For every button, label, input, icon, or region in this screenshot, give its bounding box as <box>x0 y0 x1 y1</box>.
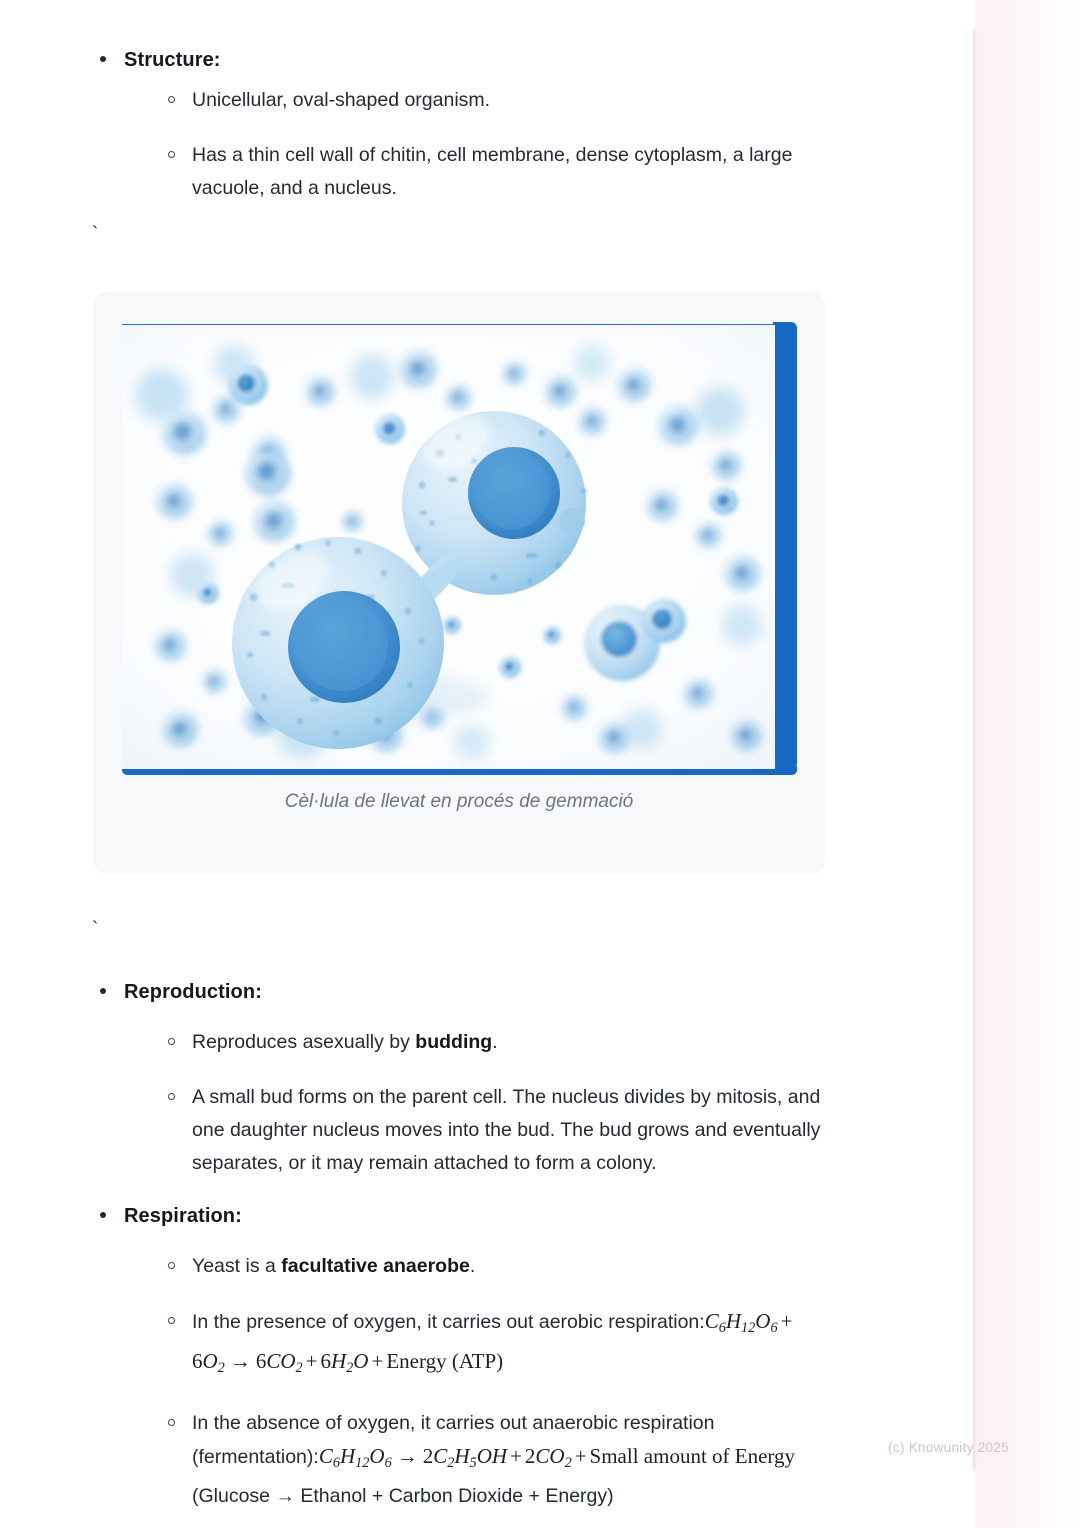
reproduction-sub-list: Reproduces asexually by budding. A small… <box>124 1026 852 1180</box>
section-heading-respiration: Respiration: <box>124 1202 852 1230</box>
list-item-text: Unicellular, oval-shaped organism. <box>192 89 490 111</box>
section-structure: Structure: Unicellular, oval-shaped orga… <box>92 46 852 205</box>
bullet-circle-icon <box>168 1093 175 1100</box>
section-respiration: Respiration: Yeast is a facultative anae… <box>92 1202 852 1513</box>
list-item-emphasis: facultative anaerobe <box>281 1255 470 1277</box>
bullet-circle-icon <box>168 1262 175 1269</box>
section-heading-reproduction: Reproduction: <box>124 978 852 1006</box>
bullet-disc-icon <box>100 1212 106 1218</box>
bullet-disc-icon <box>100 56 106 62</box>
stray-backtick-one: ` <box>92 223 852 247</box>
document-body: Structure: Unicellular, oval-shaped orga… <box>92 46 852 247</box>
watermark-knowunity: (c) Knowunity 2025 <box>888 1440 1009 1455</box>
aerobic-equation-continued: 6O2→6CO2+6H2O+Energy (ATP) <box>192 1349 503 1373</box>
list-item: Reproduces asexually by budding. <box>124 1026 852 1059</box>
figure-accent-bar-right <box>773 322 797 769</box>
page-right-pink-rule <box>973 30 975 1470</box>
aerobic-equation-formula: C6H12O6+ <box>705 1309 796 1333</box>
anaerobic-equation-word-form: (Glucose → Ethanol + Carbon Dioxide + En… <box>192 1485 614 1507</box>
figure-media <box>122 322 797 775</box>
list-item-emphasis: budding <box>415 1031 492 1053</box>
respiration-sub-list: Yeast is a facultative anaerobe. In the … <box>124 1250 852 1513</box>
bullet-disc-icon <box>100 988 106 994</box>
list-item-tail: . <box>470 1255 475 1277</box>
list-item-tail: . <box>492 1031 497 1053</box>
figure-caption: Cèl·lula de llevat en procés de gemmació <box>93 789 825 815</box>
document-body-lower: Reproduction: Reproduces asexually by bu… <box>92 978 852 1523</box>
section-reproduction: Reproduction: Reproduces asexually by bu… <box>92 978 852 1180</box>
list-item: Yeast is a facultative anaerobe. <box>124 1250 852 1283</box>
list-item: Unicellular, oval-shaped organism. <box>124 84 852 117</box>
list-item-aerobic-equation: In the presence of oxygen, it carries ou… <box>124 1305 852 1385</box>
list-item-anaerobic-equation: In the absence of oxygen, it carries out… <box>124 1407 852 1513</box>
list-item: A small bud forms on the parent cell. Th… <box>124 1081 852 1180</box>
bullet-circle-icon <box>168 1317 175 1324</box>
structure-sub-list: Unicellular, oval-shaped organism. Has a… <box>124 84 852 205</box>
bullet-circle-icon <box>168 1419 175 1426</box>
bullet-circle-icon <box>168 1038 175 1045</box>
bullet-circle-icon <box>168 151 175 158</box>
list-item-lead: In the presence of oxygen, it carries ou… <box>192 1311 705 1333</box>
list-item-text: A small bud forms on the parent cell. Th… <box>192 1086 820 1174</box>
bullet-circle-icon <box>168 96 175 103</box>
section-heading-structure: Structure: <box>124 46 852 74</box>
yeast-cell-budding-photo <box>122 324 775 769</box>
list-item-text: Has a thin cell wall of chitin, cell mem… <box>192 144 792 199</box>
page-right-pink-wash <box>975 0 1080 1528</box>
figure-card: Cèl·lula de llevat en procés de gemmació <box>93 292 825 874</box>
list-item: Has a thin cell wall of chitin, cell mem… <box>124 139 852 205</box>
anaerobic-equation-formula: C6H12O6→2C2H5OH+2CO2+Small amount of Ene… <box>319 1444 795 1468</box>
list-item-lead: Yeast is a <box>192 1255 281 1277</box>
list-item-lead: Reproduces asexually by <box>192 1031 415 1053</box>
stray-backtick-two: ` <box>92 918 98 942</box>
